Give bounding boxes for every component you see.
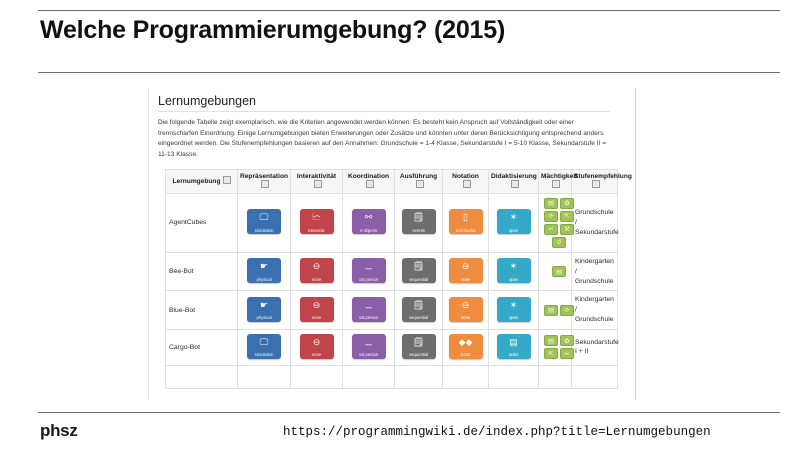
sort-icon[interactable] — [261, 180, 269, 188]
cell-clipped — [343, 365, 395, 388]
cell-didaktisierung: ✶open — [489, 193, 539, 252]
column-header-didaktisierung[interactable]: Didaktisierung — [489, 169, 539, 193]
cell-interaktivitaet: ⊖none — [291, 252, 343, 291]
didaktisierung-glyph-icon: ✶ — [497, 300, 531, 310]
maechtigkeit-glyph-icon: ▤ — [545, 306, 557, 315]
koordination-badge[interactable]: 𝍠1st person — [352, 297, 386, 322]
sort-icon[interactable] — [366, 180, 374, 188]
maechtigkeit-icon-1[interactable]: ▤ — [544, 335, 558, 346]
cell-repraesentation: ☛physical — [238, 291, 291, 330]
interaktivitaet-badge[interactable]: 🗠interactiv — [300, 209, 334, 234]
column-label: Stufenempfehlung — [574, 173, 632, 180]
maechtigkeit-icon-1[interactable]: ▤ — [544, 305, 558, 316]
repraesentation-badge[interactable]: 🖵simulation — [247, 209, 281, 234]
interaktivitaet-badge-label: none — [300, 315, 334, 320]
cell-koordination: 𝍠1st person — [343, 252, 395, 291]
repraesentation-badge[interactable]: ☛physical — [247, 297, 281, 322]
table-row-clipped — [166, 365, 618, 388]
koordination-glyph-icon: ⚯ — [352, 212, 386, 222]
maechtigkeit-glyph-icon: ✿ — [561, 337, 573, 346]
maechtigkeit-glyph-icon: ↺ — [553, 238, 565, 247]
didaktisierung-badge[interactable]: ▤tasks — [497, 334, 531, 359]
column-header-repraesentation[interactable]: Repräsentation — [238, 169, 291, 193]
didaktisierung-badge-label: open — [497, 228, 531, 233]
cell-didaktisierung: ▤tasks — [489, 329, 539, 365]
koordination-glyph-icon: 𝍠 — [352, 261, 386, 271]
cell-maechtigkeit: ▤⟳ — [539, 291, 572, 330]
cell-notation: ⊖none — [443, 291, 489, 330]
didaktisierung-badge[interactable]: ✶open — [497, 209, 531, 234]
cell-repraesentation: ☛physical — [238, 252, 291, 291]
column-label: Didaktisierung — [491, 173, 537, 180]
koordination-badge-label: n-objects — [352, 228, 386, 233]
notation-badge[interactable]: ▯text blocks — [449, 209, 483, 234]
ausfuehrung-badge-label: sequential — [402, 277, 436, 282]
notation-glyph-icon: ⊖ — [449, 261, 483, 271]
maechtigkeit-icon-1[interactable]: ▤ — [552, 266, 566, 277]
wiki-page: Lernumgebungen Die folgende Tabelle zeig… — [148, 88, 640, 400]
cell-clipped — [291, 365, 343, 388]
cell-lernumgebung-name: AgentCubes — [166, 193, 238, 252]
maechtigkeit-glyph-icon: ✂ — [545, 225, 557, 234]
maechtigkeit-glyph-icon: ▤ — [545, 337, 557, 346]
table-row: Bee-Bot☛physical⊖none𝍠1st person🗒sequent… — [166, 252, 618, 291]
notation-badge-label: none — [449, 315, 483, 320]
notation-glyph-icon: ⊖ — [449, 300, 483, 310]
cell-ausfuehrung: 🗒sequential — [395, 252, 443, 291]
didaktisierung-glyph-icon: ▤ — [497, 337, 531, 347]
koordination-badge[interactable]: 𝍠1st person — [352, 334, 386, 359]
table-row: AgentCubes🖵simulation🗠interactiv⚯n-objec… — [166, 193, 618, 252]
maechtigkeit-glyph-icon: ⟳ — [545, 212, 557, 221]
cell-maechtigkeit: ▤ — [539, 252, 572, 291]
maechtigkeit-icon-2[interactable]: ⟳ — [560, 305, 574, 316]
maechtigkeit-glyph-icon: ▤ — [553, 268, 565, 277]
cell-clipped — [539, 365, 572, 388]
cell-maechtigkeit: ▤✿⟳⇱✂⚒↺ — [539, 193, 572, 252]
sort-icon[interactable] — [511, 180, 519, 188]
column-header-lernumgebung[interactable]: Lernumgebung — [166, 169, 238, 193]
table-header-row: Lernumgebung Repräsentation Interaktivit… — [166, 169, 618, 193]
notation-badge-label: text blocks — [449, 228, 483, 233]
maechtigkeit-icon-2[interactable]: ✿ — [560, 335, 574, 346]
repraesentation-badge[interactable]: ☛physical — [247, 258, 281, 283]
notation-badge[interactable]: ◆◆icons — [449, 334, 483, 359]
table-body: AgentCubes🖵simulation🗠interactiv⚯n-objec… — [166, 193, 618, 388]
cell-repraesentation: 🖵simulation — [238, 193, 291, 252]
cell-stufenempfehlung: Kindergarten / Grundschule — [572, 291, 618, 330]
maechtigkeit-icon-group: ▤⟳ — [542, 305, 576, 316]
sort-icon[interactable] — [463, 180, 471, 188]
interaktivitaet-badge[interactable]: ⊖none — [300, 258, 334, 283]
notation-badge-label: none — [449, 277, 483, 282]
cell-interaktivitaet: 🗠interactiv — [291, 193, 343, 252]
repraesentation-badge-label: physical — [247, 277, 281, 282]
sort-icon[interactable] — [552, 180, 560, 188]
interaktivitaet-badge[interactable]: ⊖none — [300, 297, 334, 322]
cell-clipped — [489, 365, 539, 388]
repraesentation-glyph-icon: ☛ — [247, 261, 281, 271]
cell-clipped — [443, 365, 489, 388]
maechtigkeit-icon-3[interactable]: ⟳ — [544, 211, 558, 222]
sort-icon[interactable] — [223, 176, 231, 184]
sort-icon[interactable] — [592, 180, 600, 188]
cell-lernumgebung-name: Bee-Bot — [166, 252, 238, 291]
repraesentation-badge-label: simulation — [247, 352, 281, 357]
cell-clipped — [572, 365, 618, 388]
cell-clipped — [395, 365, 443, 388]
cell-ausfuehrung: 🗒events — [395, 193, 443, 252]
koordination-badge[interactable]: 𝍠1st person — [352, 258, 386, 283]
wiki-heading: Lernumgebungen — [158, 94, 610, 112]
table-row: Blue-Bot☛physical⊖none𝍠1st person🗒sequen… — [166, 291, 618, 330]
didaktisierung-badge[interactable]: ✶open — [497, 297, 531, 322]
ausfuehrung-glyph-icon: 🗒 — [402, 300, 436, 310]
cell-interaktivitaet: ⊖none — [291, 329, 343, 365]
table-row: Cargo-Bot🖵simulation⊖none𝍠1st person🗒seq… — [166, 329, 618, 365]
maechtigkeit-glyph-icon: ▤ — [545, 199, 557, 208]
notation-badge-label: icons — [449, 352, 483, 357]
maechtigkeit-icon-5[interactable]: ✂ — [544, 224, 558, 235]
cell-maechtigkeit: ▤✿⇱✂ — [539, 329, 572, 365]
cell-clipped — [238, 365, 291, 388]
maechtigkeit-icon-3[interactable]: ⇱ — [544, 348, 558, 359]
cell-ausfuehrung: 🗒sequential — [395, 329, 443, 365]
maechtigkeit-icon-6[interactable]: ⚒ — [560, 224, 574, 235]
cell-koordination: 𝍠1st person — [343, 291, 395, 330]
sort-icon[interactable] — [416, 180, 424, 188]
maechtigkeit-icon-2[interactable]: ✿ — [560, 198, 574, 209]
maechtigkeit-icon-4[interactable]: ⇱ — [560, 211, 574, 222]
ausfuehrung-glyph-icon: 🗒 — [402, 261, 436, 271]
cell-interaktivitaet: ⊖none — [291, 291, 343, 330]
repraesentation-glyph-icon: 🖵 — [247, 212, 281, 222]
koordination-glyph-icon: 𝍠 — [352, 337, 386, 347]
ausfuehrung-glyph-icon: 🗒 — [402, 212, 436, 222]
cell-repraesentation: 🖵simulation — [238, 329, 291, 365]
cell-stufenempfehlung: Sekundarstufe I + II — [572, 329, 618, 365]
repraesentation-badge-label: physical — [247, 315, 281, 320]
didaktisierung-badge-label: tasks — [497, 352, 531, 357]
interaktivitaet-glyph-icon: 🗠 — [300, 212, 334, 222]
cell-clipped — [166, 365, 238, 388]
divider-under-title — [38, 72, 780, 73]
source-url: https://programmingwiki.de/index.php?tit… — [283, 425, 711, 439]
maechtigkeit-icon-4[interactable]: ✂ — [560, 348, 574, 359]
cell-lernumgebung-name: Blue-Bot — [166, 291, 238, 330]
sort-icon[interactable] — [314, 180, 322, 188]
koordination-badge[interactable]: ⚯n-objects — [352, 209, 386, 234]
ausfuehrung-badge-label: sequential — [402, 352, 436, 357]
ausfuehrung-glyph-icon: 🗒 — [402, 337, 436, 347]
cell-lernumgebung-name: Cargo-Bot — [166, 329, 238, 365]
page-title: Welche Programmierumgebung? (2015) — [40, 16, 505, 45]
ausfuehrung-badge-label: sequential — [402, 315, 436, 320]
repraesentation-badge[interactable]: 🖵simulation — [247, 334, 281, 359]
ausfuehrung-badge[interactable]: 🗒sequential — [402, 334, 436, 359]
interaktivitaet-badge-label: interactiv — [300, 228, 334, 233]
cell-notation: ◆◆icons — [443, 329, 489, 365]
column-label: Lernumgebung — [173, 178, 221, 185]
maechtigkeit-glyph-icon: ⇱ — [561, 212, 573, 221]
interaktivitaet-glyph-icon: ⊖ — [300, 300, 334, 310]
didaktisierung-glyph-icon: ✶ — [497, 261, 531, 271]
ausfuehrung-badge[interactable]: 🗒sequential — [402, 258, 436, 283]
column-header-maechtigkeit[interactable]: Mächtigkeit — [539, 169, 572, 193]
column-label: Notation — [452, 173, 479, 180]
didaktisierung-glyph-icon: ✶ — [497, 212, 531, 222]
repraesentation-glyph-icon: 🖵 — [247, 337, 281, 347]
divider-top — [38, 10, 780, 11]
column-header-interaktivitaet[interactable]: Interaktivität — [291, 169, 343, 193]
didaktisierung-badge[interactable]: ✶open — [497, 258, 531, 283]
maechtigkeit-glyph-icon: ✂ — [561, 350, 573, 359]
repraesentation-badge-label: simulation — [247, 228, 281, 233]
slide: Welche Programmierumgebung? (2015) Lernu… — [0, 0, 800, 450]
maechtigkeit-glyph-icon: ✿ — [561, 199, 573, 208]
cell-didaktisierung: ✶open — [489, 252, 539, 291]
column-label: Mächtigkeit — [541, 173, 577, 180]
column-label: Koordination — [348, 173, 389, 180]
maechtigkeit-glyph-icon: ⟳ — [561, 306, 573, 315]
cell-didaktisierung: ✶open — [489, 291, 539, 330]
phsz-logo: phsz — [40, 421, 78, 441]
didaktisierung-badge-label: open — [497, 315, 531, 320]
ausfuehrung-badge-label: events — [402, 228, 436, 233]
interaktivitaet-glyph-icon: ⊖ — [300, 261, 334, 271]
divider-footer — [38, 412, 780, 413]
koordination-badge-label: 1st person — [352, 315, 386, 320]
cell-stufenempfehlung: Kindergarten / Grundschule — [572, 252, 618, 291]
column-header-ausfuehrung[interactable]: Ausführung — [395, 169, 443, 193]
column-header-notation[interactable]: Notation — [443, 169, 489, 193]
interaktivitaet-badge-label: none — [300, 352, 334, 357]
embedded-wiki-screenshot: Lernumgebungen Die folgende Tabelle zeig… — [148, 88, 640, 400]
column-label: Ausführung — [400, 173, 437, 180]
maechtigkeit-glyph-icon: ⇱ — [545, 350, 557, 359]
koordination-badge-label: 1st person — [352, 277, 386, 282]
column-label: Interaktivität — [297, 173, 336, 180]
column-header-koordination[interactable]: Koordination — [343, 169, 395, 193]
koordination-badge-label: 1st person — [352, 352, 386, 357]
cell-koordination: ⚯n-objects — [343, 193, 395, 252]
interaktivitaet-badge[interactable]: ⊖none — [300, 334, 334, 359]
cell-stufenempfehlung: Grundschule / Sekundarstufe — [572, 193, 618, 252]
cell-notation: ▯text blocks — [443, 193, 489, 252]
notation-badge[interactable]: ⊖none — [449, 258, 483, 283]
wiki-intro-paragraph: Die folgende Tabelle zeigt exemplarisch,… — [158, 118, 610, 161]
cell-ausfuehrung: 🗒sequential — [395, 291, 443, 330]
maechtigkeit-icon-1[interactable]: ▤ — [544, 198, 558, 209]
notation-badge[interactable]: ⊖none — [449, 297, 483, 322]
koordination-glyph-icon: 𝍠 — [352, 300, 386, 310]
cell-koordination: 𝍠1st person — [343, 329, 395, 365]
interaktivitaet-badge-label: none — [300, 277, 334, 282]
interaktivitaet-glyph-icon: ⊖ — [300, 337, 334, 347]
didaktisierung-badge-label: open — [497, 277, 531, 282]
maechtigkeit-icon-7[interactable]: ↺ — [552, 237, 566, 248]
ausfuehrung-badge[interactable]: 🗒sequential — [402, 297, 436, 322]
notation-glyph-icon: ▯ — [449, 212, 483, 222]
column-header-stufenempfehlung[interactable]: Stufenempfehlung — [572, 169, 618, 193]
cell-notation: ⊖none — [443, 252, 489, 291]
repraesentation-glyph-icon: ☛ — [247, 300, 281, 310]
maechtigkeit-glyph-icon: ⚒ — [561, 225, 573, 234]
lernumgebungen-table: Lernumgebung Repräsentation Interaktivit… — [165, 169, 618, 389]
column-label: Repräsentation — [240, 173, 288, 180]
notation-glyph-icon: ◆◆ — [449, 337, 483, 347]
ausfuehrung-badge[interactable]: 🗒events — [402, 209, 436, 234]
